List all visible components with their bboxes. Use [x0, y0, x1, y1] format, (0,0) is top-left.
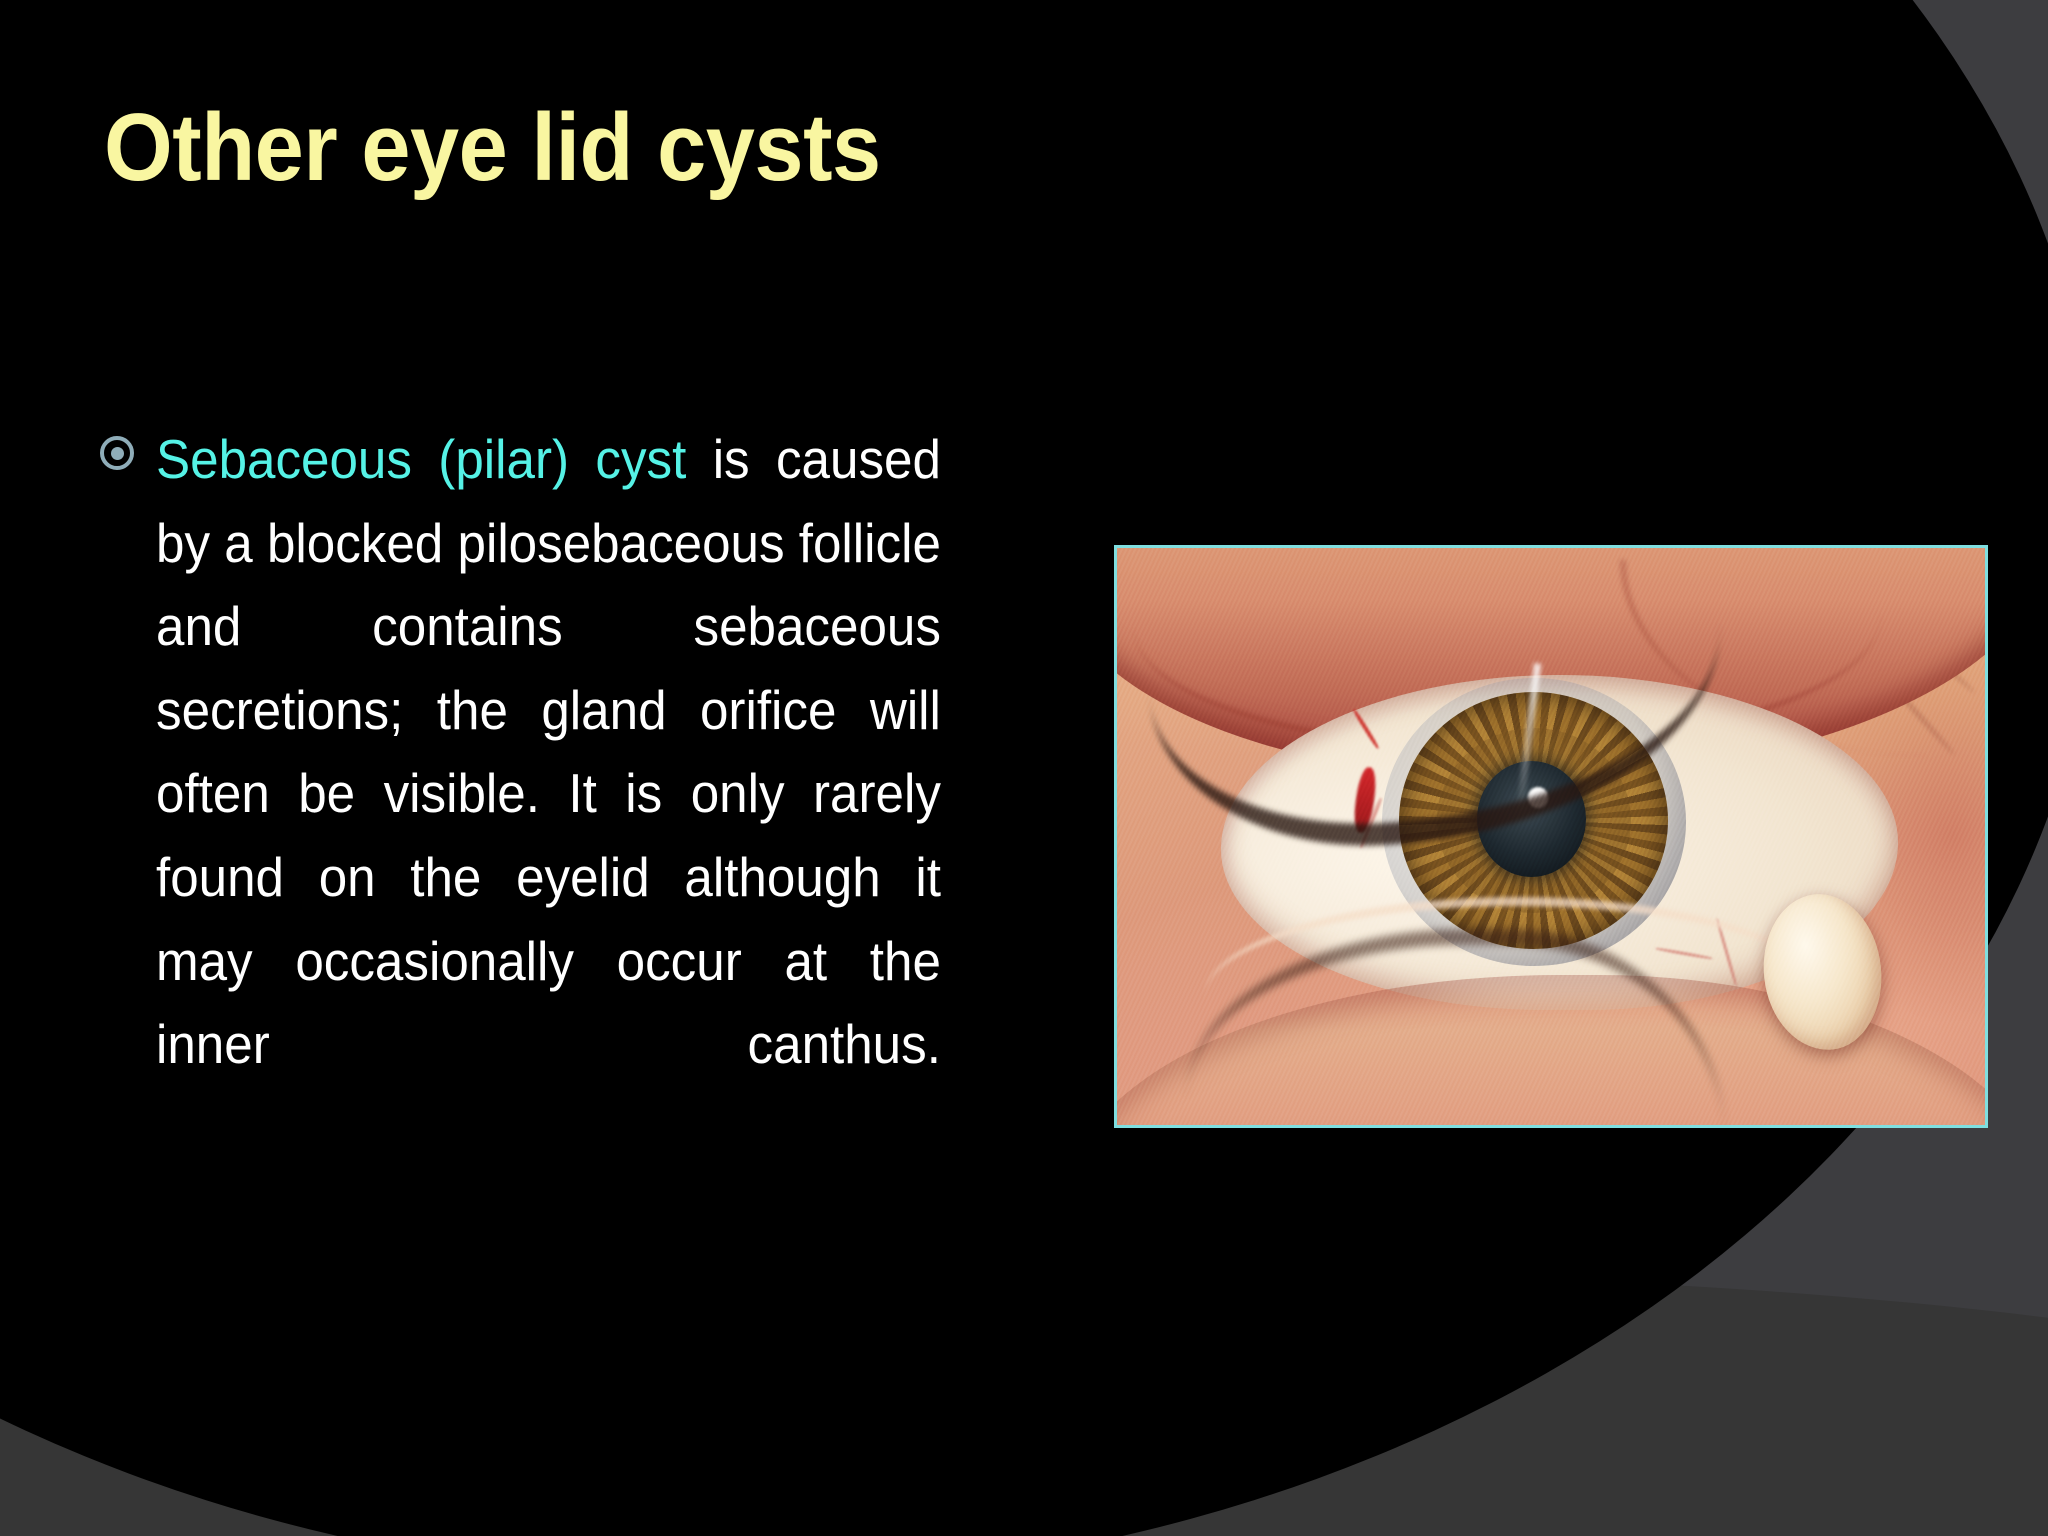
slide: Other eye lid cysts Sebaceous (pilar) cy… — [0, 0, 2048, 1536]
bullet-paragraph: Sebaceous (pilar) cyst is caused by a bl… — [156, 418, 941, 1170]
ring-dot-bullet-icon — [100, 436, 134, 470]
highlighted-term: Sebaceous (pilar) cyst — [156, 428, 686, 490]
photo-grain-overlay — [1117, 548, 1985, 1125]
slide-title: Other eye lid cysts — [104, 96, 881, 200]
photo-content — [1117, 548, 1985, 1125]
bullet-list: Sebaceous (pilar) cyst is caused by a bl… — [100, 418, 1000, 1170]
eyelid-cyst-photograph — [1114, 545, 1988, 1128]
bullet-body-text: is caused by a blocked pilosebaceous fol… — [156, 428, 941, 1075]
